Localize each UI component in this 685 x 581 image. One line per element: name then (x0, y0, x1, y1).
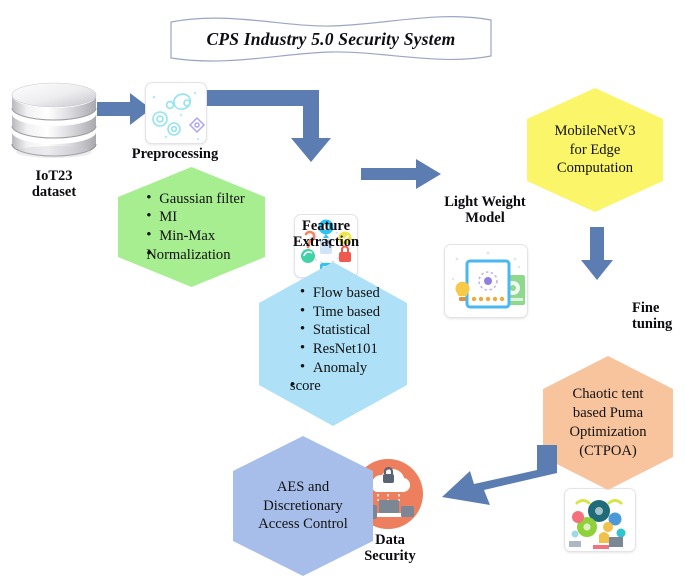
database-cylinder-icon (4, 78, 104, 164)
edge-model-text: MobileNetV3 for Edge Computation (554, 122, 635, 179)
list-item: Anomaly (300, 359, 380, 378)
hexagon-preprocessing-details: Gaussian filter MI Min-Max Normalization (118, 167, 265, 287)
hexagon-feature-details: Flow based Time based Statistical ResNet… (259, 262, 407, 426)
page-title: CPS Industry 5.0 Security System (168, 13, 494, 65)
arrow-preprocessing-to-feature (207, 88, 342, 164)
arrow-optimization-to-security (412, 443, 558, 511)
arrow-feature-to-lightweight (360, 158, 442, 190)
hexagon-optimization: Chaotic tent based Puma Optimization (CT… (543, 356, 673, 490)
hexagon-edge-model: MobileNetV3 for Edge Computation (527, 88, 663, 212)
arrow-dataset-to-preprocessing (96, 92, 152, 126)
feature-detail-list: Flow based Time based Statistical ResNet… (300, 284, 380, 396)
diagram-title-banner: CPS Industry 5.0 Security System (168, 13, 494, 65)
dataset-label: IoT23 dataset (4, 168, 104, 200)
list-item: Min-Max (146, 227, 245, 246)
gears-people-icon (564, 488, 636, 552)
list-item: Gaussian filter (146, 190, 245, 209)
list-item-continuation: Normalization (146, 246, 245, 265)
feature-label: Feature Extraction (283, 218, 369, 250)
optimization-text: Chaotic tent based Puma Optimization (CT… (569, 385, 646, 461)
preprocessing-detail-list: Gaussian filter MI Min-Max Normalization (146, 190, 245, 265)
list-item: MI (146, 208, 245, 227)
list-item: ResNet101 (300, 340, 380, 359)
lightweight-label: Light Weight Model (432, 194, 538, 226)
lightbulb-screen-icon (444, 244, 528, 318)
finetuning-label: Fine tuning (632, 300, 684, 332)
arrow-edge-to-finetuning (580, 226, 614, 281)
access-control-text: AES and Discretionary Access Control (258, 478, 348, 535)
list-item: Statistical (300, 321, 380, 340)
list-item-continuation: score (290, 377, 380, 396)
list-item: Flow based (300, 284, 380, 303)
preprocessing-gears-icon (145, 82, 207, 144)
hexagon-access-control: AES and Discretionary Access Control (233, 436, 373, 576)
list-item: Time based (300, 303, 380, 322)
